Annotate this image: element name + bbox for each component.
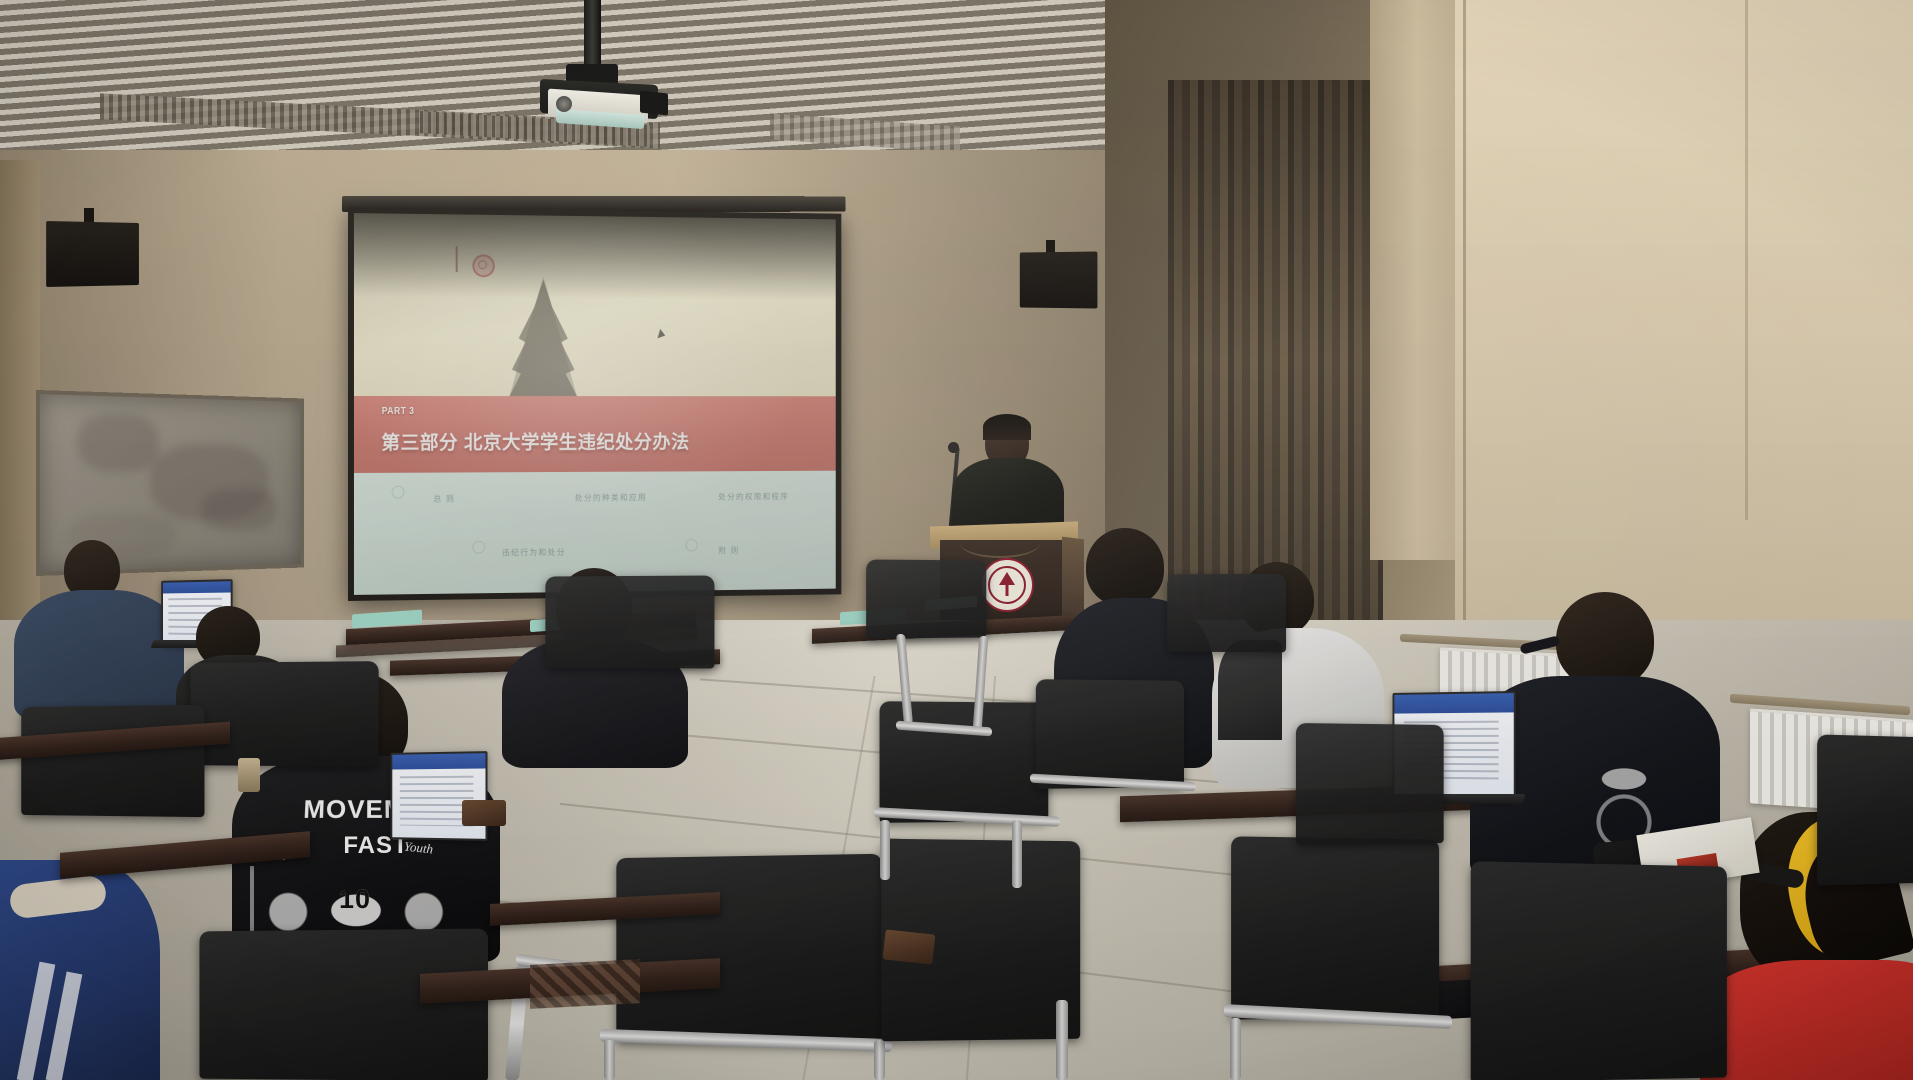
chair-back-a[interactable] — [866, 559, 986, 638]
slide-item-1: 总 则 — [433, 493, 455, 504]
chair-front-left[interactable] — [199, 929, 488, 1080]
chair-back-e[interactable] — [21, 705, 204, 817]
slide-title: 第三部分 北京大学学生违纪处分办法 — [381, 428, 689, 455]
projector-bracket — [640, 91, 668, 116]
wall-speaker-right — [1020, 252, 1098, 309]
chair-back-c[interactable] — [545, 575, 714, 668]
chair-chrome-leg — [874, 1040, 885, 1080]
jacket-script-right: Youth — [403, 839, 434, 858]
chair-chrome-leg — [1012, 820, 1022, 888]
chair-chrome-leg — [880, 820, 890, 880]
slide-part-label: PART 3 — [381, 406, 414, 417]
slide-bullet-1 — [391, 486, 404, 499]
wall-speaker-left — [46, 221, 139, 287]
wood-block — [462, 800, 506, 826]
slide-item-5: 附 则 — [718, 545, 739, 556]
wall-seam-b — [1745, 0, 1748, 520]
chair-chrome-leg — [1230, 1018, 1241, 1080]
jacket-number: 10 — [320, 884, 390, 915]
left-wall — [0, 160, 40, 680]
chair-back-d[interactable] — [190, 661, 378, 767]
podium-side — [1062, 537, 1084, 624]
wall-pillar — [1370, 0, 1465, 560]
student-head — [1086, 528, 1164, 606]
slide-item-4: 违纪行为和处分 — [502, 547, 566, 559]
cup-on-desk — [238, 758, 260, 792]
desk-pattern — [530, 959, 640, 1009]
microphone-icon — [948, 442, 959, 453]
projector-lens-icon — [556, 96, 572, 112]
chair-chrome-leg — [1056, 1000, 1068, 1080]
audio-cable — [960, 528, 1040, 558]
chair-right-back[interactable] — [1296, 723, 1444, 845]
chair-back-b[interactable] — [1167, 574, 1286, 653]
chair-chrome-leg — [604, 1040, 615, 1080]
pku-seal-icon — [980, 558, 1034, 612]
chair-front-center[interactable] — [616, 854, 882, 1046]
projection-screen: PART 3 第三部分 北京大学学生违纪处分办法 总 则 处分的种类和应用 处分… — [348, 207, 841, 601]
screen-top-shadow — [354, 213, 836, 301]
student-torso — [1700, 960, 1913, 1080]
far-right-wall — [1455, 0, 1913, 640]
laptop-center — [390, 751, 487, 841]
chair-far-right[interactable] — [1817, 734, 1913, 885]
chair-mid-b[interactable] — [1036, 679, 1184, 789]
wall-seam-a — [1463, 0, 1466, 620]
student-torso — [14, 590, 184, 720]
chair-right-front[interactable] — [1471, 861, 1727, 1080]
slide-item-2: 处分的种类和应用 — [575, 492, 647, 503]
lecturer-hair — [983, 414, 1031, 440]
wood-block — [883, 929, 936, 964]
student-arm — [1218, 640, 1282, 740]
chair-right-mid[interactable] — [1231, 836, 1439, 1019]
classroom-photo: PART 3 第三部分 北京大学学生违纪处分办法 总 则 处分的种类和应用 处分… — [0, 0, 1913, 1080]
student-head — [1556, 592, 1654, 688]
slide-bullet-5 — [685, 538, 697, 551]
screen-surface: PART 3 第三部分 北京大学学生违纪处分办法 总 则 处分的种类和应用 处分… — [354, 213, 836, 595]
slide-item-3: 处分的权限和程序 — [718, 491, 789, 502]
slide-bullet-4 — [473, 540, 486, 553]
